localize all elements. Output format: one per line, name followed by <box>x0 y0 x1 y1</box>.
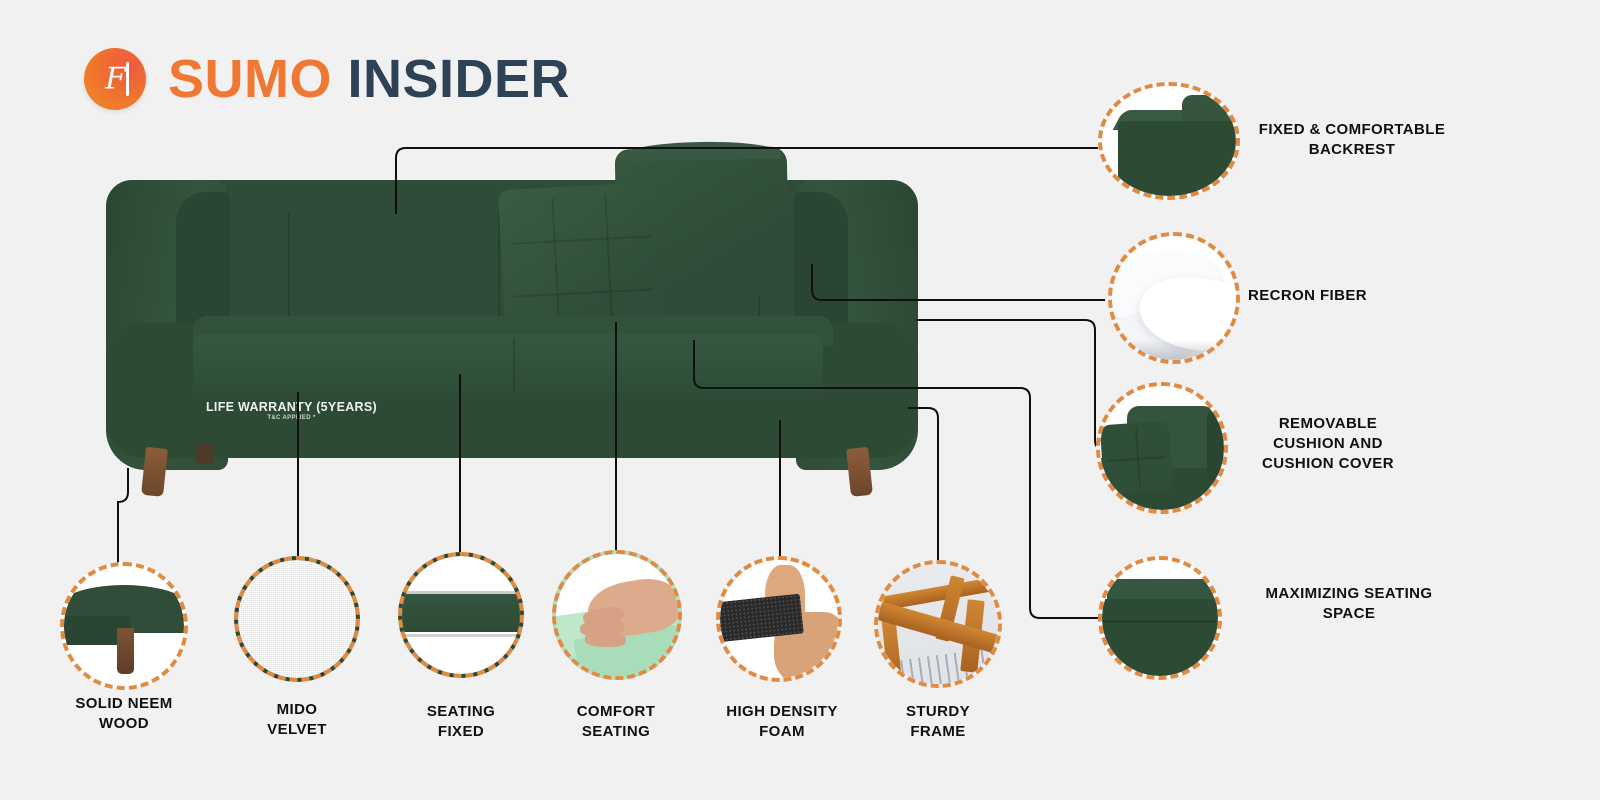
thumbnail-removable-cushion[interactable] <box>1096 382 1228 514</box>
brand-word-sumo: SUMO <box>168 49 332 109</box>
brand-word-insider: INSIDER <box>348 49 571 109</box>
brand-header: F SUMO INSIDER <box>84 48 570 110</box>
connector-removable <box>916 320 1105 450</box>
pillow-stitch <box>511 235 651 244</box>
backrest-body-icon <box>1118 121 1236 196</box>
label-recron-fiber: RECRON FIBER <box>1248 286 1456 306</box>
thumbnail-comfort-seating[interactable] <box>552 550 682 680</box>
warranty-text: LIFE WARRANTY (5YEARS) <box>206 400 377 414</box>
velvet-texture-icon <box>238 560 356 678</box>
label-removable-cushion-cover: REMOVABLECUSHION ANDCUSHION COVER <box>1224 414 1432 473</box>
thumbnail-seating-fixed[interactable] <box>398 552 524 678</box>
thumbnail-mido-velvet[interactable] <box>234 556 360 682</box>
sofa-leg-left <box>141 447 168 497</box>
neem-wooden-leg-icon <box>117 628 134 674</box>
thumbnail-sturdy-frame[interactable] <box>874 560 1002 688</box>
hand-finger <box>585 631 627 647</box>
thumbnail-recron-fiber[interactable] <box>1108 232 1240 364</box>
sofa-seat-cushion <box>193 334 823 394</box>
pillow-stitch <box>513 288 653 297</box>
pillow-stitch <box>604 195 613 335</box>
sofa-illustration: LIFE WARRANTY (5YEARS) T&C APPLIED * <box>98 148 928 498</box>
seat-seam <box>513 338 515 392</box>
warranty-stamp: LIFE WARRANTY (5YEARS) T&C APPLIED * <box>206 400 377 421</box>
seat-space-body-icon <box>1102 599 1218 676</box>
thumbnail-high-density-foam[interactable] <box>716 556 842 682</box>
seat-fixed-panel-icon <box>402 594 520 632</box>
seat-space-edge <box>1102 620 1218 623</box>
logo-f-glyph: F <box>84 62 146 97</box>
seat-fixed-seam <box>402 591 520 594</box>
thumbnail-backrest[interactable] <box>1098 82 1240 200</box>
cushion-arm-icon <box>1207 408 1224 482</box>
infographic-canvas: F SUMO INSIDER <box>0 0 1600 800</box>
seat-fixed-seam <box>402 634 520 637</box>
label-sturdy-frame: STURDYFRAME <box>834 702 1042 742</box>
sofa-leg-rear <box>196 444 214 464</box>
label-fixed-comfortable-backrest: FIXED & COMFORTABLEBACKREST <box>1248 120 1456 160</box>
cushion-front-icon <box>1100 421 1174 495</box>
logo-bar <box>126 62 129 96</box>
thumbnail-solid-neem-wood[interactable] <box>60 562 188 690</box>
thumbnail-maximizing-space[interactable] <box>1098 556 1222 680</box>
fi-circle-logo-icon: F <box>84 48 146 110</box>
warranty-subtext: T&C APPLIED * <box>206 415 377 421</box>
label-maximizing-seating-space: MAXIMIZING SEATINGSPACE <box>1244 584 1454 624</box>
fiber-shadow <box>1112 340 1236 360</box>
page-title: SUMO INSIDER <box>168 52 570 106</box>
